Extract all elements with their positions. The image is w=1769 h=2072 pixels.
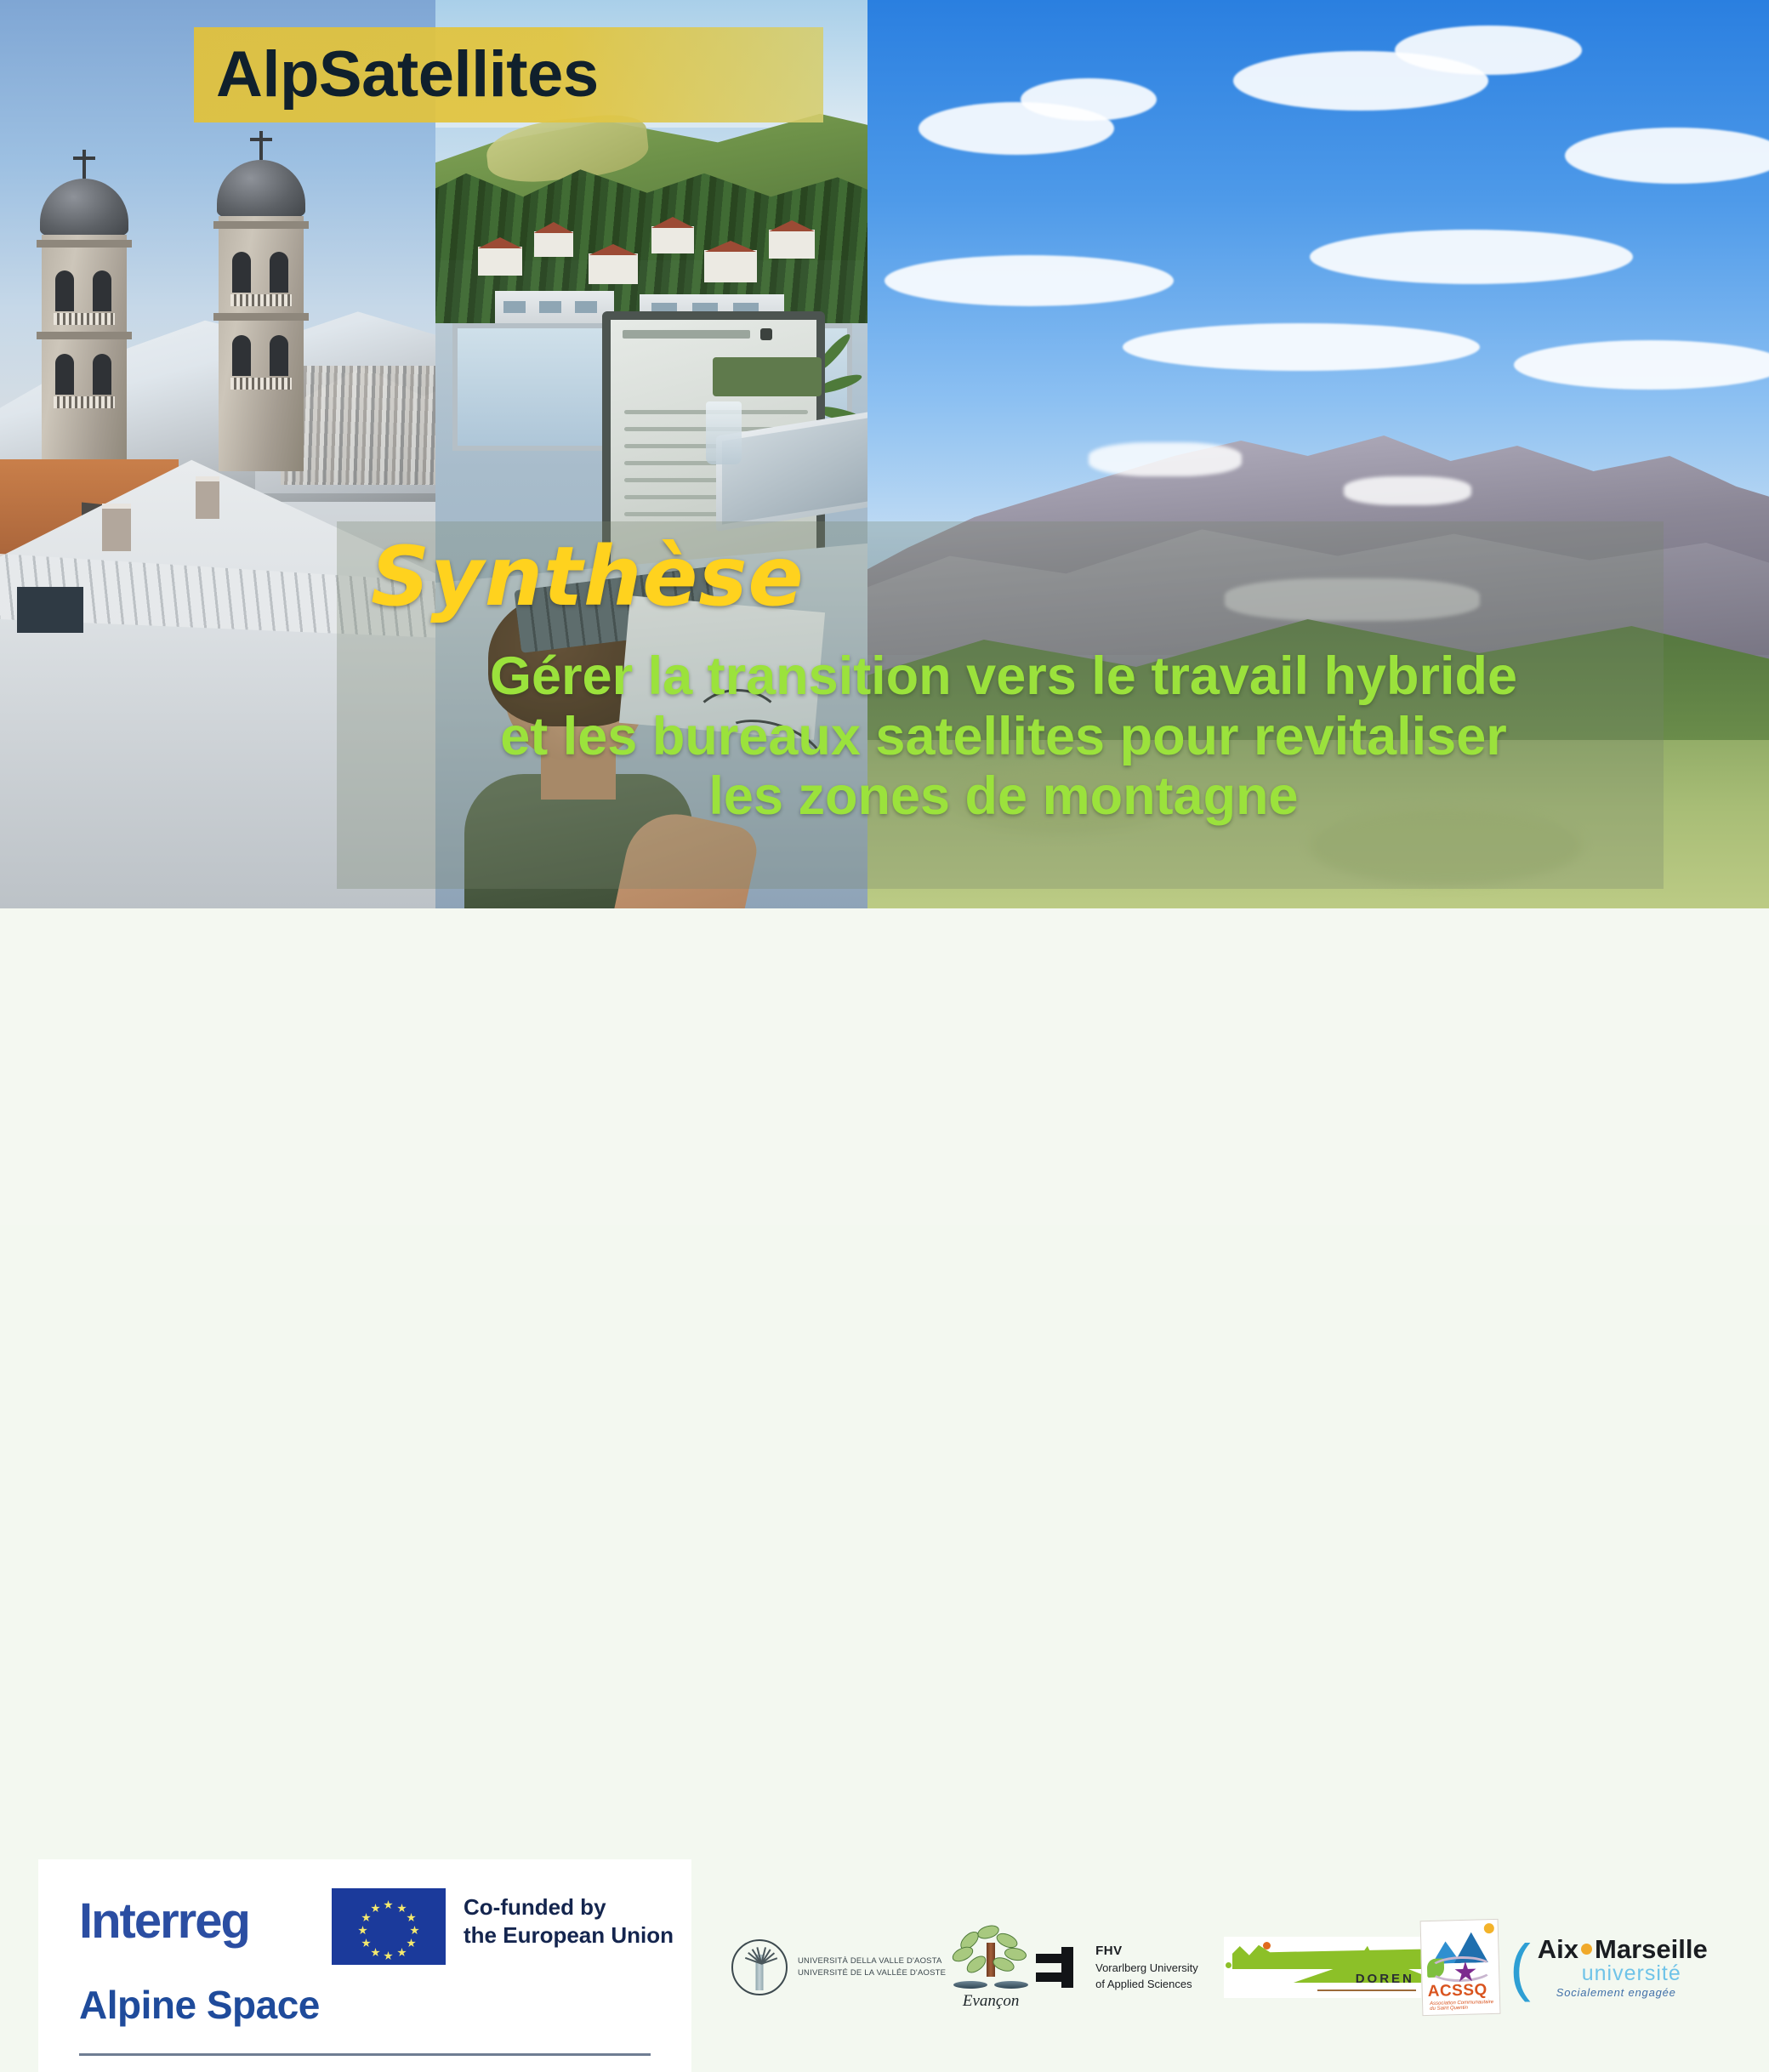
tower-arch xyxy=(93,354,111,395)
tower-arch xyxy=(232,252,251,293)
univda-text: UNIVERSITÀ DELLA VALLE D'AOSTA UNIVERSIT… xyxy=(798,1955,946,1979)
snow-patch xyxy=(1089,442,1242,476)
amu-line-2: université xyxy=(1582,1962,1708,1986)
tower-dome xyxy=(217,160,305,221)
fhv-vorarlberg-logo: FHV Vorarlberg University of Applied Sci… xyxy=(1036,1912,1224,2023)
universita-valle-daosta-logo: UNIVERSITÀ DELLA VALLE D'AOSTA UNIVERSIT… xyxy=(731,1912,946,2023)
fhv-mark-icon xyxy=(1036,1947,1085,1988)
window xyxy=(503,301,526,313)
subtitle-block: Gérer la transition vers le travail hybr… xyxy=(340,646,1667,827)
monitor-green-panel xyxy=(713,357,822,396)
cloud xyxy=(1565,128,1769,184)
cloud xyxy=(1123,323,1480,371)
house xyxy=(589,253,638,284)
cloud xyxy=(884,255,1174,306)
doren-label: DOREN xyxy=(1356,1972,1414,1986)
eu-funding-line-2: the European Union xyxy=(464,1921,674,1950)
cloud xyxy=(1514,340,1769,390)
fhv-text: FHV Vorarlberg University of Applied Sci… xyxy=(1095,1942,1198,1992)
acssq-graphic: ACSSQ Association Communautaire du Saint… xyxy=(1419,1919,1500,2016)
doren-logo: DOREN xyxy=(1224,1912,1421,2023)
cross-icon xyxy=(259,131,263,160)
chimney xyxy=(196,476,219,519)
tower-balustrade xyxy=(230,294,292,306)
univda-line-1: UNIVERSITÀ DELLA VALLE D'AOSTA xyxy=(798,1955,946,1967)
tower-cornice xyxy=(37,332,132,339)
univda-line-2: UNIVERSITÉ DE LA VALLÉE D'AOSTE xyxy=(798,1967,946,1979)
house xyxy=(651,226,694,253)
tower-cornice xyxy=(213,313,309,321)
subtitle-line-2: et les bureaux satellites pour revitalis… xyxy=(340,707,1667,767)
eu-funding-line-1: Co-funded by xyxy=(464,1893,674,1921)
evancon-logo: Evançon xyxy=(946,1912,1036,2023)
doren-orange-dot xyxy=(1263,1942,1271,1950)
tower-balustrade xyxy=(230,378,292,390)
doren-graphic: DOREN xyxy=(1224,1937,1421,1998)
fhv-abbr: FHV xyxy=(1095,1944,1123,1958)
eu-funding-text: Co-funded by the European Union xyxy=(464,1893,674,1950)
eu-flag-icon xyxy=(332,1888,446,1965)
interreg-wordmark: Interreg xyxy=(79,1897,249,1946)
roof xyxy=(530,222,577,233)
amu-marseille: Marseille xyxy=(1595,1936,1708,1962)
amu-aix: Aix xyxy=(1538,1936,1578,1962)
roof xyxy=(765,220,819,231)
tree-circle-icon xyxy=(731,1939,788,1995)
window xyxy=(575,301,597,313)
amu-bracket-icon: ( xyxy=(1510,1942,1531,1992)
subtitle-line-1: Gérer la transition vers le travail hybr… xyxy=(340,646,1667,707)
subtitle-line-3: les zones de montagne xyxy=(340,766,1667,827)
aix-marseille-universite-logo: ( Aix Marseille université Socialement e… xyxy=(1510,1912,1735,2023)
amu-line-1: Aix Marseille xyxy=(1538,1936,1708,1962)
tower-balustrade xyxy=(54,313,115,325)
tower-arch xyxy=(55,270,74,311)
roof xyxy=(584,244,642,255)
roof xyxy=(647,217,698,228)
acssq-logo: ACSSQ Association Communautaire du Saint… xyxy=(1421,1912,1510,2023)
cross-icon xyxy=(82,150,86,179)
page-title: AlpSatellites xyxy=(216,43,599,107)
evancon-tree-icon xyxy=(952,1924,1030,1990)
cloud xyxy=(1021,78,1157,121)
house xyxy=(534,231,573,257)
poster-root: AlpSatellites Synthèse Gérer la transiti… xyxy=(0,0,1769,1225)
amu-line-3: Socialement engagée xyxy=(1556,1986,1708,1999)
tower-arch xyxy=(55,354,74,395)
tower-balustrade xyxy=(54,396,115,408)
distant-town-texture xyxy=(281,366,435,485)
acssq-sun-icon xyxy=(1484,1923,1494,1933)
drinking-glass xyxy=(706,401,742,464)
footer-logo-band: Interreg Alpine Space Co-funded by the E… xyxy=(0,908,1769,1225)
cloud xyxy=(1310,230,1633,284)
tower-arch xyxy=(270,252,288,293)
alpine-space-label: Alpine Space xyxy=(79,1985,320,2024)
title-banner: AlpSatellites xyxy=(194,27,823,122)
amu-dot-icon xyxy=(1581,1944,1592,1955)
house xyxy=(769,230,815,259)
partner-logos: UNIVERSITÀ DELLA VALLE D'AOSTA UNIVERSIT… xyxy=(731,1904,1735,2031)
doren-underline xyxy=(1317,1989,1416,1991)
tower-arch xyxy=(232,335,251,376)
house xyxy=(478,247,522,276)
skylight xyxy=(17,587,83,633)
amu-text: Aix Marseille université Socialement eng… xyxy=(1538,1936,1708,1999)
tower-arch xyxy=(93,270,111,311)
evancon-label: Evançon xyxy=(963,1992,1019,2011)
tower-cornice xyxy=(213,221,309,229)
card-divider xyxy=(79,2053,651,2056)
house xyxy=(704,250,757,282)
interreg-wordmark-text: Interreg xyxy=(79,1893,249,1949)
kicker-synthese: Synthèse xyxy=(371,536,1221,618)
fhv-line-2: of Applied Sciences xyxy=(1095,1977,1198,1993)
interreg-logo-card: Interreg Alpine Space Co-funded by the E… xyxy=(38,1859,691,2072)
chimney xyxy=(102,504,131,551)
tower-dome xyxy=(40,179,128,240)
laptop-screen xyxy=(722,418,867,524)
roof xyxy=(700,241,761,252)
hero-image-strip: AlpSatellites Synthèse Gérer la transiti… xyxy=(0,0,1769,908)
roof xyxy=(474,237,526,248)
monitor-ui-dot xyxy=(760,328,772,340)
acssq-tagline: Association Communautaire du Saint Quent… xyxy=(1430,2000,1499,2012)
tower-cornice xyxy=(37,240,132,248)
tower-body xyxy=(219,216,304,471)
cloud xyxy=(1395,26,1582,75)
fhv-line-1: Vorarlberg University xyxy=(1095,1961,1198,1977)
monitor-header-bar xyxy=(623,330,750,339)
window xyxy=(539,301,561,313)
acssq-label: ACSSQ xyxy=(1427,1981,1487,2001)
tower-body xyxy=(42,235,127,490)
snow-patch xyxy=(1344,476,1471,505)
tower-arch xyxy=(270,335,288,376)
doren-dot xyxy=(1226,1962,1231,1968)
